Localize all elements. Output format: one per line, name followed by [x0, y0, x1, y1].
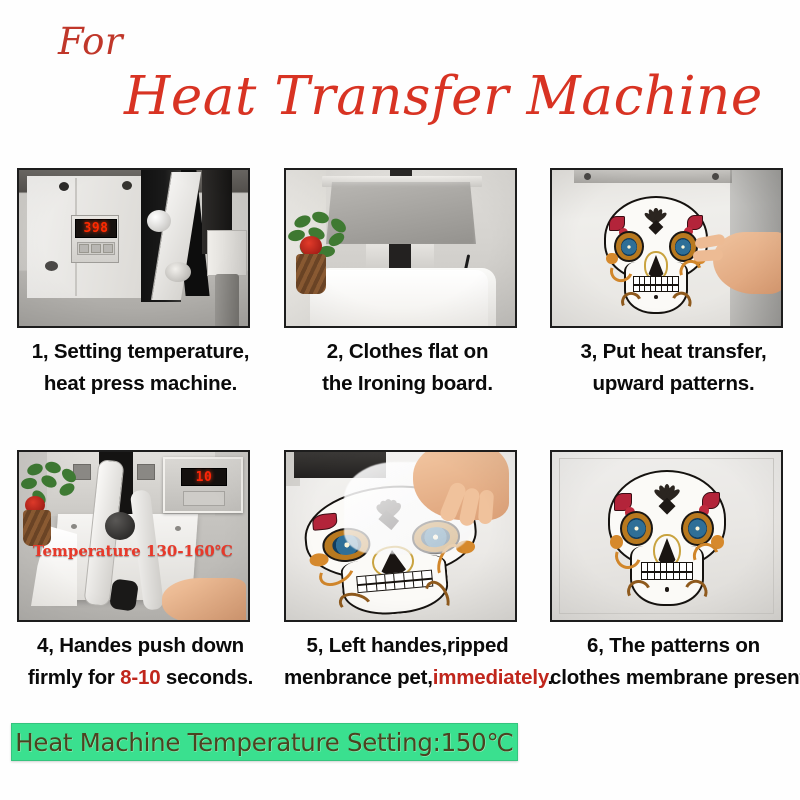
header-for-label: For: [58, 20, 123, 63]
step-4-line2-pre: firmly for: [28, 666, 120, 689]
instruction-poster: For Heat Transfer Machine: [0, 0, 800, 800]
step-2-caption-line1: 2, Clothes flat on: [284, 336, 531, 368]
step-6-caption-line1: 6, The patterns on: [550, 630, 797, 662]
step-card-2: 2, Clothes flat on the Ironing board.: [284, 168, 531, 400]
step-4-line2-post: seconds.: [160, 666, 253, 689]
step-4-caption: 4, Handes push down firmly for 8-10 seco…: [17, 630, 264, 694]
cloth-on-board: [310, 270, 488, 328]
step-1-caption-line1: 1, Setting temperature,: [17, 336, 264, 368]
step-5-line2-highlight: immediately: [433, 666, 548, 689]
temperature-overlay-label: Temperature 130-160℃: [33, 542, 233, 560]
step-1-caption-line2: heat press machine.: [17, 368, 264, 400]
step-3-caption-line2: upward patterns.: [550, 368, 797, 400]
step-1-photo: 398: [17, 168, 250, 328]
screw-icon: [122, 181, 132, 190]
step-2-caption-line2: the Ironing board.: [284, 368, 531, 400]
step-2-photo: [284, 168, 517, 328]
step-2-caption: 2, Clothes flat on the Ironing board.: [284, 336, 531, 400]
step-5-line2-pre: menbrance pet,: [284, 666, 433, 689]
step-5-caption-line1: 5, Left handes,ripped: [284, 630, 531, 662]
screw-icon: [59, 182, 69, 191]
skull-transfer-design: [608, 470, 726, 606]
flower-pot: [23, 510, 51, 546]
temperature-display-value: 398: [84, 221, 109, 236]
temperature-display: 398: [75, 219, 117, 238]
rose-icon: [300, 236, 322, 256]
temperature-setting-banner: Heat Machine Temperature Setting:150℃: [11, 723, 518, 761]
step-card-1: 398 1, Setting temperature, heat press m…: [17, 168, 264, 400]
inset-display-value: 10: [196, 470, 213, 485]
step-5-photo: [284, 450, 517, 622]
steps-grid: 398 1, Setting temperature, heat press m…: [0, 168, 800, 740]
step-3-photo: [550, 168, 783, 328]
steps-row-1: 398 1, Setting temperature, heat press m…: [0, 168, 800, 450]
flower-pot: [296, 254, 326, 294]
step-3-caption-line1: 3, Put heat transfer,: [550, 336, 797, 368]
poster-header: For Heat Transfer Machine: [0, 0, 800, 160]
temperature-setting-banner-text: Heat Machine Temperature Setting:150℃: [15, 728, 513, 757]
step-card-5: 5, Left handes,ripped menbrance pet,imme…: [284, 450, 531, 694]
steps-row-2: 10 Temperature 130-160℃ 4, Handes push d…: [0, 450, 800, 740]
inset-temperature-display: 10: [181, 468, 227, 486]
step-card-6: 6, The patterns on clothes membrane pres…: [550, 450, 797, 694]
step-6-photo: [550, 450, 783, 622]
step-5-caption: 5, Left handes,ripped menbrance pet,imme…: [284, 630, 531, 694]
step-6-caption-line2: clothes membrane present.: [550, 662, 797, 694]
hand: [162, 578, 246, 622]
controller-inset: 10: [163, 457, 243, 513]
step-4-photo: 10 Temperature 130-160℃: [17, 450, 250, 622]
step-4-caption-line1: 4, Handes push down: [17, 630, 264, 662]
step-6-caption: 6, The patterns on clothes membrane pres…: [550, 630, 797, 694]
step-1-caption: 1, Setting temperature, heat press machi…: [17, 336, 264, 400]
step-4-line2-highlight: 8-10: [120, 666, 160, 689]
step-card-4: 10 Temperature 130-160℃ 4, Handes push d…: [17, 450, 264, 694]
step-card-3: 3, Put heat transfer, upward patterns.: [550, 168, 797, 400]
step-5-caption-line2: menbrance pet,immediately.: [284, 662, 531, 694]
step-3-caption: 3, Put heat transfer, upward patterns.: [550, 336, 797, 400]
page-title: Heat Transfer Machine: [124, 66, 763, 127]
screw-icon: [45, 261, 58, 271]
step-4-caption-line2: firmly for 8-10 seconds.: [17, 662, 264, 694]
temperature-controller: 398: [71, 215, 119, 263]
controller-buttons: [77, 242, 115, 255]
